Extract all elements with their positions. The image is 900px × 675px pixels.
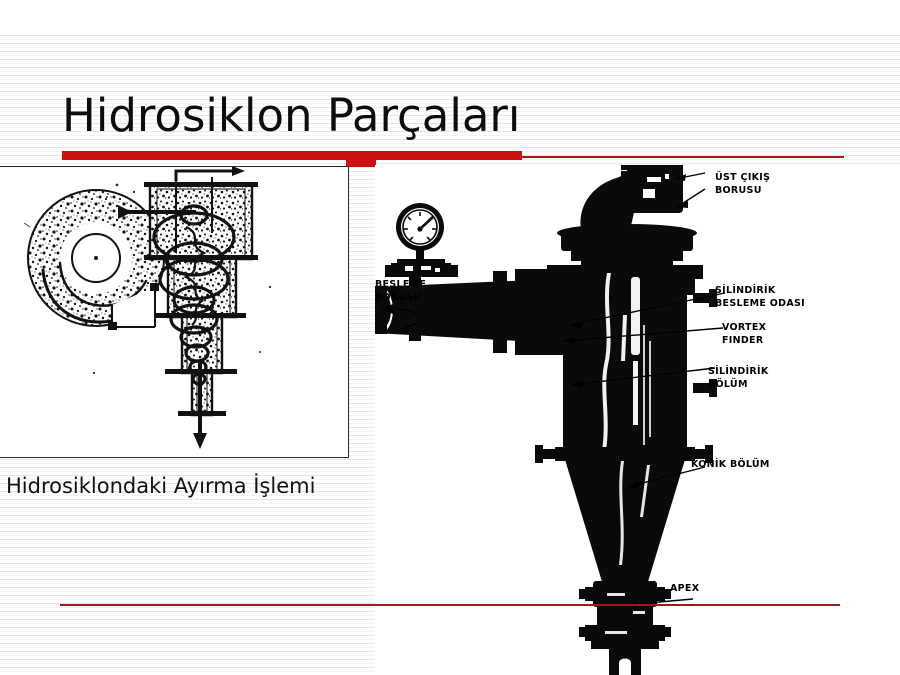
photo-panel: [375, 165, 900, 675]
diagram-panel: [0, 166, 349, 458]
callout-besleme-borusu: BESLEME BORUSU: [375, 279, 426, 304]
slide-canvas: Hidrosiklon Parçaları: [0, 0, 900, 675]
callout-konik-bolum: KONİK BÖLÜM: [691, 459, 770, 472]
callout-silindirik-besleme-odasi: SİLİNDİRİK BESLEME ODASI: [715, 285, 805, 310]
callout-vortex-finder: VORTEX FINDER: [722, 322, 766, 347]
page-title: Hidrosiklon Parçaları: [62, 88, 520, 144]
callout-silindirik-bolum: SİLİNDİRİK BÖLÜM: [708, 366, 769, 391]
separation-diagrams-svg: [0, 167, 348, 457]
top-white-band: [0, 0, 900, 34]
title-rule-thick: [62, 151, 522, 160]
bottom-rule: [60, 604, 840, 606]
title-rule-tab: [346, 158, 376, 167]
callout-apex: APEX: [670, 583, 699, 596]
hydrocyclone-photo-svg: [375, 165, 900, 675]
callout-ust-cikis-borusu: ÜST ÇIKIŞ BORUSU: [715, 172, 770, 197]
diagram-caption: Hidrosiklondaki Ayırma İşlemi: [6, 474, 315, 498]
